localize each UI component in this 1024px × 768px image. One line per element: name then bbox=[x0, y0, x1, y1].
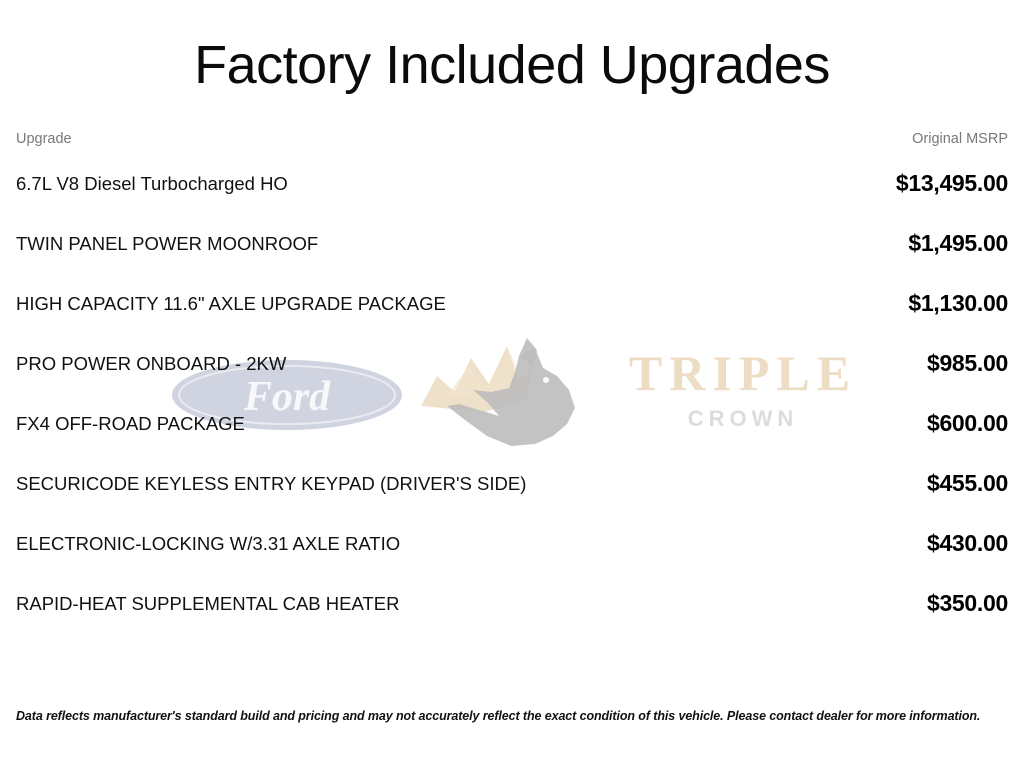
table-row: RAPID-HEAT SUPPLEMENTAL CAB HEATER $350.… bbox=[16, 573, 1008, 633]
disclaimer-text: Data reflects manufacturer's standard bu… bbox=[16, 708, 1008, 724]
page-title: Factory Included Upgrades bbox=[16, 0, 1008, 95]
upgrade-name: FX4 OFF-ROAD PACKAGE bbox=[16, 393, 631, 453]
upgrades-table: Upgrade Original MSRP 6.7L V8 Diesel Tur… bbox=[16, 131, 1008, 633]
table-row: PRO POWER ONBOARD - 2KW $985.00 bbox=[16, 333, 1008, 393]
upgrade-price: $350.00 bbox=[631, 573, 1008, 633]
upgrade-name: ELECTRONIC-LOCKING W/3.31 AXLE RATIO bbox=[16, 513, 631, 573]
table-body: 6.7L V8 Diesel Turbocharged HO $13,495.0… bbox=[16, 153, 1008, 633]
table-row: HIGH CAPACITY 11.6" AXLE UPGRADE PACKAGE… bbox=[16, 273, 1008, 333]
upgrade-price: $985.00 bbox=[631, 333, 1008, 393]
upgrade-price: $600.00 bbox=[631, 393, 1008, 453]
upgrade-name: PRO POWER ONBOARD - 2KW bbox=[16, 333, 631, 393]
table-header: Upgrade Original MSRP bbox=[16, 131, 1008, 153]
table-row: 6.7L V8 Diesel Turbocharged HO $13,495.0… bbox=[16, 153, 1008, 213]
column-header-upgrade: Upgrade bbox=[16, 131, 631, 153]
upgrade-price: $1,495.00 bbox=[631, 213, 1008, 273]
upgrade-name: TWIN PANEL POWER MOONROOF bbox=[16, 213, 631, 273]
table-header-row: Upgrade Original MSRP bbox=[16, 131, 1008, 153]
upgrade-name: RAPID-HEAT SUPPLEMENTAL CAB HEATER bbox=[16, 573, 631, 633]
upgrade-price: $13,495.00 bbox=[631, 153, 1008, 213]
table-row: ELECTRONIC-LOCKING W/3.31 AXLE RATIO $43… bbox=[16, 513, 1008, 573]
upgrade-name: HIGH CAPACITY 11.6" AXLE UPGRADE PACKAGE bbox=[16, 273, 631, 333]
upgrade-price: $430.00 bbox=[631, 513, 1008, 573]
upgrade-name: SECURICODE KEYLESS ENTRY KEYPAD (DRIVER'… bbox=[16, 453, 631, 513]
upgrade-price: $1,130.00 bbox=[631, 273, 1008, 333]
column-header-original-msrp: Original MSRP bbox=[631, 131, 1008, 153]
table-row: TWIN PANEL POWER MOONROOF $1,495.00 bbox=[16, 213, 1008, 273]
upgrade-price: $455.00 bbox=[631, 453, 1008, 513]
upgrade-name: 6.7L V8 Diesel Turbocharged HO bbox=[16, 153, 631, 213]
table-row: SECURICODE KEYLESS ENTRY KEYPAD (DRIVER'… bbox=[16, 453, 1008, 513]
table-row: FX4 OFF-ROAD PACKAGE $600.00 bbox=[16, 393, 1008, 453]
upgrades-document: Ford TRIPLE CROWN Factory Included Upgra… bbox=[0, 0, 1024, 768]
